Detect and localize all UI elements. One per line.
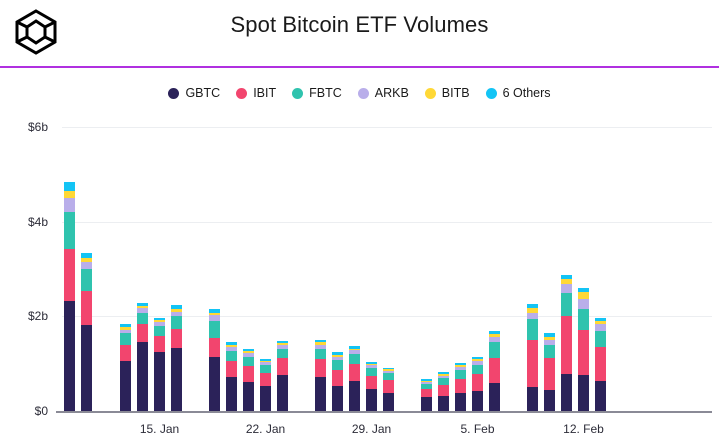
bar-column[interactable] xyxy=(595,318,606,411)
bar-segment-bitb xyxy=(578,292,589,299)
bar-segment-gbtc xyxy=(260,386,271,411)
y-axis-tick-label: $0 xyxy=(35,404,48,418)
bar-segment-ibit xyxy=(489,358,500,383)
bar-column[interactable] xyxy=(455,363,466,411)
legend-item-label: GBTC xyxy=(185,86,220,100)
bar-segment-fbtc xyxy=(489,342,500,359)
legend-swatch-icon xyxy=(168,88,179,99)
legend-item-label: BITB xyxy=(442,86,470,100)
bar-column[interactable] xyxy=(544,333,555,411)
bar-segment-fbtc xyxy=(315,349,326,359)
bar-column[interactable] xyxy=(527,304,538,411)
bar-segment-arkb xyxy=(561,284,572,293)
bar-segment-ibit xyxy=(421,389,432,398)
bar-segment-fbtc xyxy=(366,368,377,376)
bar-stack xyxy=(226,342,237,411)
page-header: Spot Bitcoin ETF Volumes xyxy=(0,0,719,68)
bar-stack xyxy=(544,333,555,411)
bar-segment-gbtc xyxy=(81,325,92,411)
bar-stack xyxy=(578,288,589,411)
bar-segment-fbtc xyxy=(226,351,237,361)
bar-stack xyxy=(527,304,538,411)
bar-segment-ibit xyxy=(171,329,182,348)
bar-segment-fbtc xyxy=(64,212,75,249)
bar-column[interactable] xyxy=(209,309,220,411)
bar-segment-gbtc xyxy=(332,386,343,411)
bar-segment-fbtc xyxy=(277,349,288,358)
bar-segment-gbtc xyxy=(243,382,254,411)
bar-stack xyxy=(209,309,220,411)
bar-stack xyxy=(561,275,572,411)
bar-segment-ibit xyxy=(332,370,343,386)
bar-segment-gbtc xyxy=(472,391,483,411)
bar-column[interactable] xyxy=(226,342,237,411)
legend-item-label: 6 Others xyxy=(503,86,551,100)
x-axis-tick-label: 15. Jan xyxy=(140,422,179,436)
bar-stack xyxy=(243,349,254,411)
bar-segment-bitb xyxy=(64,191,75,198)
bar-segment-gbtc xyxy=(226,377,237,411)
bar-segment-fbtc xyxy=(561,293,572,317)
bar-segment-ibit xyxy=(383,380,394,392)
gridline xyxy=(62,222,712,223)
bar-column[interactable] xyxy=(120,324,131,411)
bar-stack xyxy=(120,324,131,411)
bar-segment-ibit xyxy=(527,340,538,387)
x-axis-tick-label: 5. Feb xyxy=(460,422,494,436)
bar-segment-gbtc xyxy=(527,387,538,411)
bar-segment-fbtc xyxy=(243,357,254,366)
bar-segment-fbtc xyxy=(544,345,555,358)
bar-segment-gbtc xyxy=(171,348,182,411)
bar-segment-6-others xyxy=(64,182,75,191)
bar-segment-fbtc xyxy=(349,354,360,364)
legend-item-label: IBIT xyxy=(253,86,276,100)
gridline xyxy=(62,127,712,128)
legend-item[interactable]: IBIT xyxy=(236,86,276,100)
bar-segment-gbtc xyxy=(366,389,377,411)
bar-segment-gbtc xyxy=(489,383,500,411)
x-axis-tick-label: 29. Jan xyxy=(352,422,391,436)
bar-segment-arkb xyxy=(64,198,75,211)
bar-segment-ibit xyxy=(243,366,254,382)
bar-stack xyxy=(171,305,182,411)
bar-stack xyxy=(154,318,165,411)
bar-stack xyxy=(438,372,449,411)
legend-swatch-icon xyxy=(236,88,247,99)
bar-segment-gbtc xyxy=(383,393,394,411)
legend-item[interactable]: BITB xyxy=(425,86,470,100)
bar-segment-gbtc xyxy=(438,396,449,411)
y-axis-tick-label: $2b xyxy=(28,309,48,323)
bar-segment-ibit xyxy=(595,347,606,381)
bar-stack xyxy=(64,182,75,411)
bar-segment-ibit xyxy=(561,316,572,374)
bar-stack xyxy=(472,357,483,411)
bar-segment-gbtc xyxy=(595,381,606,411)
bar-segment-ibit xyxy=(472,374,483,391)
bar-segment-fbtc xyxy=(383,373,394,380)
legend-swatch-icon xyxy=(358,88,369,99)
x-axis-tick-label: 12. Feb xyxy=(563,422,604,436)
legend-item[interactable]: FBTC xyxy=(292,86,342,100)
bar-column[interactable] xyxy=(260,359,271,411)
bar-segment-ibit xyxy=(137,324,148,342)
bar-stack xyxy=(421,379,432,411)
bar-column[interactable] xyxy=(277,341,288,411)
bar-column[interactable] xyxy=(64,182,75,411)
bar-segment-ibit xyxy=(209,338,220,357)
bar-segment-arkb xyxy=(578,299,589,309)
bar-stack xyxy=(277,341,288,411)
bar-stack xyxy=(332,352,343,411)
bar-stack xyxy=(137,303,148,411)
bar-column[interactable] xyxy=(243,349,254,411)
bar-segment-ibit xyxy=(544,358,555,390)
bar-segment-ibit xyxy=(154,336,165,352)
bar-stack xyxy=(349,346,360,411)
bar-segment-ibit xyxy=(455,379,466,393)
bar-segment-fbtc xyxy=(260,365,271,373)
bar-column[interactable] xyxy=(438,372,449,411)
bar-stack xyxy=(315,340,326,411)
bar-segment-fbtc xyxy=(154,326,165,336)
page-title: Spot Bitcoin ETF Volumes xyxy=(0,12,719,38)
bar-segment-fbtc xyxy=(171,316,182,328)
x-axis-tick-label: 22. Jan xyxy=(246,422,285,436)
bar-column[interactable] xyxy=(578,288,589,411)
bar-segment-ibit xyxy=(226,361,237,377)
bar-stack xyxy=(595,318,606,411)
bar-column[interactable] xyxy=(137,303,148,411)
legend-item[interactable]: GBTC xyxy=(168,86,220,100)
bar-column[interactable] xyxy=(81,253,92,411)
legend-item-label: ARKB xyxy=(375,86,409,100)
chart-legend: GBTCIBITFBTCARKBBITB6 Others xyxy=(0,86,719,100)
y-axis-labels: $0$2b$4b$6b xyxy=(0,127,56,417)
bar-segment-gbtc xyxy=(421,397,432,411)
bar-segment-gbtc xyxy=(120,361,131,411)
bar-column[interactable] xyxy=(421,379,432,411)
bar-segment-ibit xyxy=(120,345,131,361)
bar-segment-gbtc xyxy=(578,375,589,411)
bar-stack xyxy=(366,362,377,411)
bar-stack xyxy=(383,368,394,411)
bar-segment-ibit xyxy=(277,358,288,375)
bar-column[interactable] xyxy=(366,362,377,411)
bar-segment-ibit xyxy=(578,330,589,374)
bar-segment-ibit xyxy=(366,376,377,389)
bar-segment-fbtc xyxy=(332,360,343,370)
bar-segment-gbtc xyxy=(315,377,326,411)
bar-stack xyxy=(81,253,92,411)
legend-item[interactable]: ARKB xyxy=(358,86,409,100)
bar-stack xyxy=(455,363,466,411)
y-axis-tick-label: $6b xyxy=(28,120,48,134)
bar-segment-fbtc xyxy=(137,313,148,325)
bar-column[interactable] xyxy=(561,275,572,411)
legend-swatch-icon xyxy=(486,88,497,99)
bar-segment-fbtc xyxy=(595,331,606,347)
bar-column[interactable] xyxy=(489,331,500,411)
legend-item-label: FBTC xyxy=(309,86,342,100)
bar-segment-fbtc xyxy=(120,333,131,345)
bar-segment-gbtc xyxy=(544,390,555,411)
bar-segment-arkb xyxy=(527,313,538,320)
y-axis-tick-label: $4b xyxy=(28,215,48,229)
bar-column[interactable] xyxy=(171,305,182,411)
bar-column[interactable] xyxy=(383,368,394,411)
bar-segment-fbtc xyxy=(527,319,538,340)
bar-segment-ibit xyxy=(64,249,75,301)
bar-segment-fbtc xyxy=(455,370,466,379)
bar-segment-fbtc xyxy=(209,321,220,338)
bar-segment-ibit xyxy=(438,385,449,396)
bar-segment-gbtc xyxy=(137,342,148,411)
bar-column[interactable] xyxy=(349,346,360,411)
bar-column[interactable] xyxy=(472,357,483,411)
x-axis-line xyxy=(56,411,712,413)
bar-segment-gbtc xyxy=(154,352,165,411)
legend-item[interactable]: 6 Others xyxy=(486,86,551,100)
bar-segment-gbtc xyxy=(64,301,75,411)
bar-segment-ibit xyxy=(349,364,360,381)
bar-segment-gbtc xyxy=(349,381,360,411)
bar-segment-ibit xyxy=(315,359,326,377)
x-axis-labels: 15. Jan22. Jan29. Jan5. Feb12. Feb xyxy=(62,416,712,442)
header-divider xyxy=(0,66,719,68)
bar-stack xyxy=(489,331,500,411)
bar-segment-fbtc xyxy=(81,269,92,291)
bar-column[interactable] xyxy=(154,318,165,411)
bar-segment-fbtc xyxy=(438,378,449,385)
bar-segment-arkb xyxy=(81,262,92,269)
bar-segment-gbtc xyxy=(455,393,466,411)
bar-column[interactable] xyxy=(332,352,343,411)
chart-page: Spot Bitcoin ETF Volumes GBTCIBITFBTCARK… xyxy=(0,0,719,445)
bar-segment-gbtc xyxy=(561,374,572,411)
bar-segment-ibit xyxy=(260,373,271,386)
legend-swatch-icon xyxy=(292,88,303,99)
plot-area xyxy=(62,127,712,412)
bar-segment-ibit xyxy=(81,291,92,326)
bar-segment-gbtc xyxy=(209,357,220,411)
bar-segment-fbtc xyxy=(578,309,589,330)
bar-stack xyxy=(260,359,271,411)
bar-column[interactable] xyxy=(315,340,326,411)
bar-segment-fbtc xyxy=(472,365,483,374)
bar-segment-gbtc xyxy=(277,375,288,411)
legend-swatch-icon xyxy=(425,88,436,99)
